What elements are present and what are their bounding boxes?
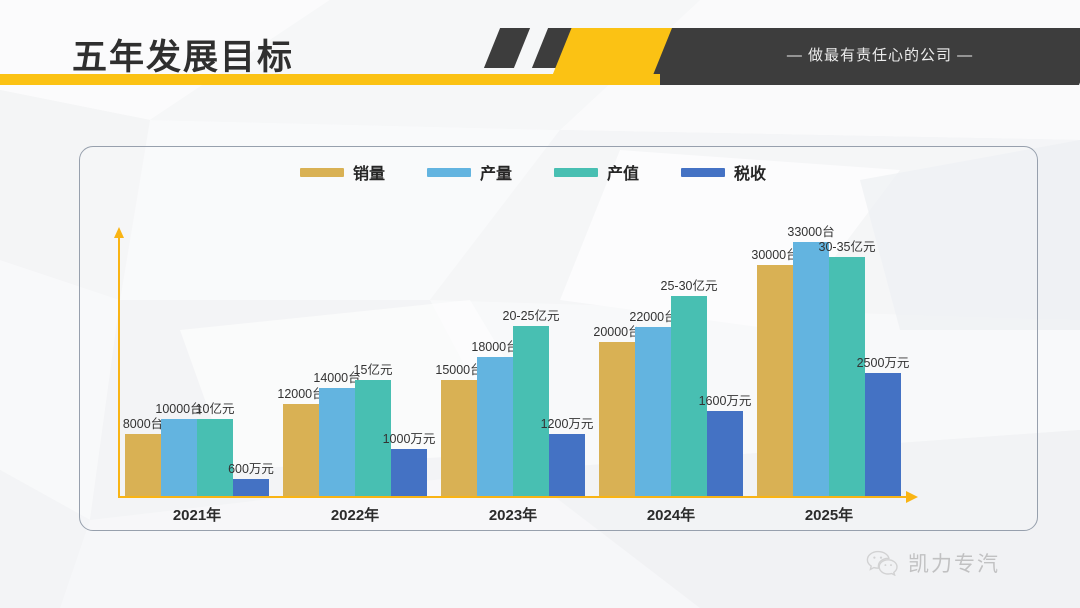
legend-label: 产量 (480, 160, 512, 184)
chart-legend: 销量产量产值税收 (300, 160, 766, 184)
legend-label: 税收 (734, 160, 766, 184)
bar-group-2021年: 8000台10000台10亿元600万元 (118, 236, 276, 496)
bar-group-2023年: 15000台18000台20-25亿元1200万元 (434, 236, 592, 496)
bar-group-bars: 15000台18000台20-25亿元1200万元 (434, 236, 592, 496)
bar-value-label: 12000台 (277, 388, 324, 401)
bar-value-label: 1200万元 (541, 418, 594, 431)
bar-value-label: 30000台 (751, 249, 798, 262)
bar-rect (793, 242, 829, 496)
bar-group-bars: 12000台14000台15亿元1000万元 (276, 236, 434, 496)
bar-value-label: 600万元 (228, 463, 274, 476)
bar-产值-2023年[interactable]: 20-25亿元 (513, 326, 549, 496)
bar-rect (161, 419, 197, 496)
bar-rect (441, 380, 477, 496)
header-tagline: — 做最有责任心的公司 — (700, 44, 1060, 65)
bar-rect (197, 419, 233, 496)
bar-value-label: 30-35亿元 (819, 241, 876, 254)
bar-销量-2023年[interactable]: 15000台 (441, 380, 477, 496)
bar-rect (549, 434, 585, 496)
chart-plot-area: 8000台10000台10亿元600万元12000台14000台15亿元1000… (118, 236, 908, 498)
bar-rect (283, 404, 319, 496)
bar-rect (635, 327, 671, 496)
bar-value-label: 20-25亿元 (503, 310, 560, 323)
bar-产值-2021年[interactable]: 10亿元 (197, 419, 233, 496)
wechat-icon (866, 550, 900, 576)
bar-value-label: 2500万元 (857, 357, 910, 370)
x-axis-labels: 2021年2022年2023年2024年2025年 (118, 504, 908, 525)
bar-rect (125, 434, 161, 496)
bar-group-2025年: 30000台33000台30-35亿元2500万元 (750, 236, 908, 496)
bar-rect (829, 257, 865, 496)
bar-value-label: 18000台 (471, 341, 518, 354)
bar-group-2022年: 12000台14000台15亿元1000万元 (276, 236, 434, 496)
bar-group-bars: 20000台22000台25-30亿元1600万元 (592, 236, 750, 496)
slide-header: 五年发展目标 — 做最有责任心的公司 — (0, 0, 1080, 96)
bar-税收-2024年[interactable]: 1600万元 (707, 411, 743, 496)
bar-税收-2022年[interactable]: 1000万元 (391, 449, 427, 496)
legend-swatch-icon (681, 168, 725, 177)
bar-rect (599, 342, 635, 496)
bar-value-label: 20000台 (593, 326, 640, 339)
legend-swatch-icon (427, 168, 471, 177)
x-label-2023年: 2023年 (434, 504, 592, 525)
x-label-2025年: 2025年 (750, 504, 908, 525)
bar-rect (707, 411, 743, 496)
bar-产量-2022年[interactable]: 14000台 (319, 388, 355, 496)
legend-swatch-icon (554, 168, 598, 177)
bar-rect (391, 449, 427, 496)
bar-rect (233, 479, 269, 496)
bar-销量-2022年[interactable]: 12000台 (283, 404, 319, 496)
bar-rect (477, 357, 513, 496)
bar-产量-2023年[interactable]: 18000台 (477, 357, 513, 496)
legend-swatch-icon (300, 168, 344, 177)
bar-value-label: 15亿元 (354, 364, 393, 377)
bar-value-label: 22000台 (629, 311, 676, 324)
bar-销量-2025年[interactable]: 30000台 (757, 265, 793, 496)
header-stripe-1 (484, 28, 530, 68)
bar-产量-2025年[interactable]: 33000台 (793, 242, 829, 496)
bar-rect (319, 388, 355, 496)
bar-销量-2024年[interactable]: 20000台 (599, 342, 635, 496)
bar-rect (513, 326, 549, 496)
bar-rect (865, 373, 901, 496)
bar-value-label: 33000台 (787, 226, 834, 239)
legend-item-产量: 产量 (427, 160, 512, 184)
bar-groups: 8000台10000台10亿元600万元12000台14000台15亿元1000… (118, 236, 908, 496)
bar-group-2024年: 20000台22000台25-30亿元1600万元 (592, 236, 750, 496)
bar-group-bars: 8000台10000台10亿元600万元 (118, 236, 276, 496)
bar-产量-2021年[interactable]: 10000台 (161, 419, 197, 496)
bar-value-label: 1000万元 (383, 433, 436, 446)
bar-产量-2024年[interactable]: 22000台 (635, 327, 671, 496)
bar-税收-2025年[interactable]: 2500万元 (865, 373, 901, 496)
bar-value-label: 25-30亿元 (661, 280, 718, 293)
bar-value-label: 15000台 (435, 364, 482, 377)
legend-item-销量: 销量 (300, 160, 385, 184)
bar-value-label: 1600万元 (699, 395, 752, 408)
bar-value-label: 10亿元 (196, 403, 235, 416)
x-label-2024年: 2024年 (592, 504, 750, 525)
x-label-2022年: 2022年 (276, 504, 434, 525)
page-title: 五年发展目标 (72, 29, 294, 80)
x-axis (118, 496, 908, 498)
legend-label: 产值 (607, 160, 639, 184)
legend-label: 销量 (353, 160, 385, 184)
bar-销量-2021年[interactable]: 8000台 (125, 434, 161, 496)
legend-item-税收: 税收 (681, 160, 766, 184)
legend-item-产值: 产值 (554, 160, 639, 184)
bar-税收-2023年[interactable]: 1200万元 (549, 434, 585, 496)
bar-value-label: 8000台 (123, 418, 163, 431)
bar-产值-2025年[interactable]: 30-35亿元 (829, 257, 865, 496)
bar-group-bars: 30000台33000台30-35亿元2500万元 (750, 236, 908, 496)
bar-rect (757, 265, 793, 496)
slide-root: 五年发展目标 — 做最有责任心的公司 — 销量产量产值税收 8000台10000… (0, 0, 1080, 608)
bar-税收-2021年[interactable]: 600万元 (233, 479, 269, 496)
watermark-text: 凯力专汽 (908, 548, 1000, 578)
x-label-2021年: 2021年 (118, 504, 276, 525)
watermark: 凯力专汽 (866, 548, 1000, 578)
